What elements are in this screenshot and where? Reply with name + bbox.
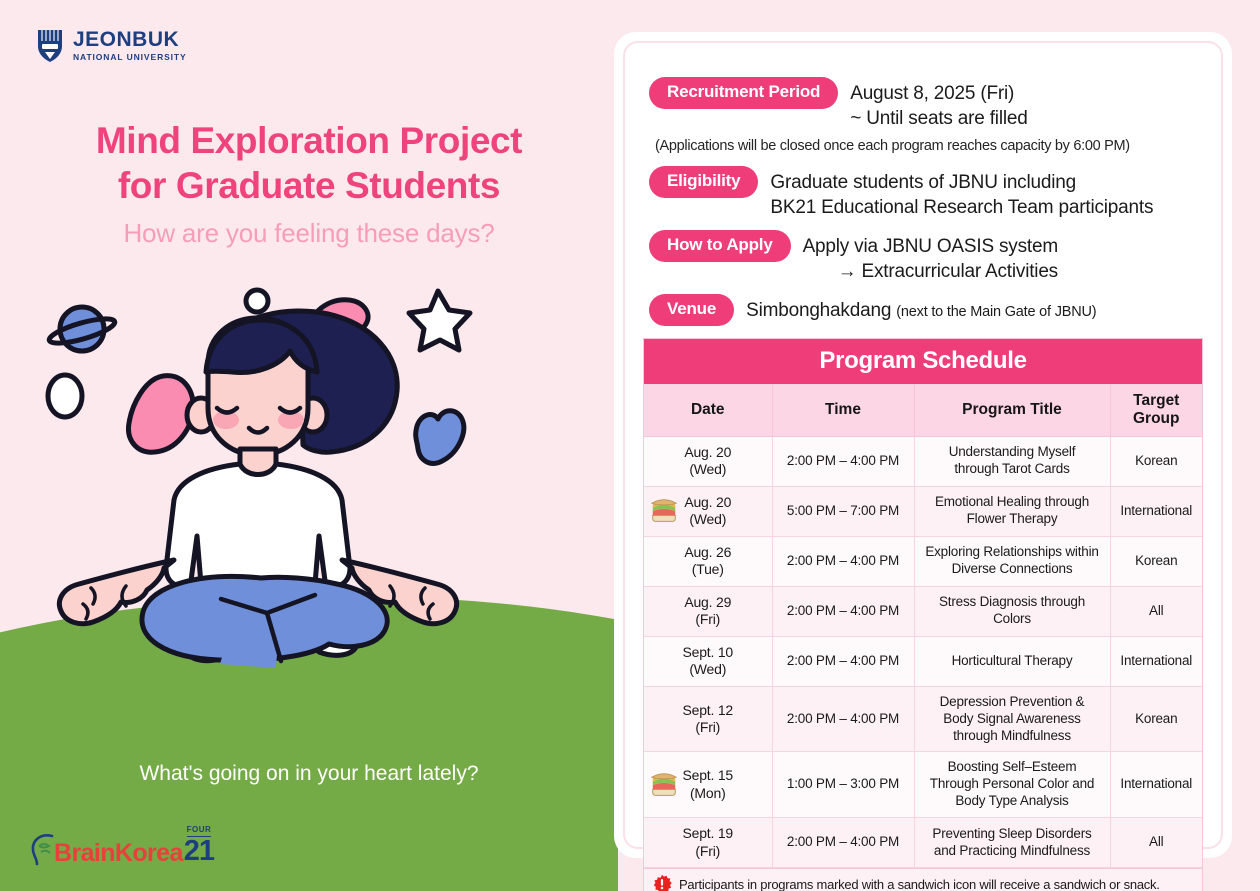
cell-date: Aug. 20(Wed) <box>644 436 772 486</box>
program-title-line: through Mindfulness <box>953 728 1071 743</box>
jeonbuk-logo: JEONBUK NATIONAL UNIVERSITY <box>36 28 187 62</box>
schedule-footnote: Participants in programs marked with a s… <box>644 868 1202 891</box>
sandwich-icon <box>649 498 679 524</box>
cell-time: 2:00 PM – 4:00 PM <box>772 536 914 586</box>
cell-date: Aug. 20(Wed) <box>644 486 772 536</box>
eligibility-line1: Graduate students of JBNU including <box>770 172 1076 193</box>
program-title-line: Diverse Connections <box>952 561 1073 576</box>
table-row: Sept. 15(Mon)1:00 PM – 3:00 PMBoosting S… <box>644 752 1202 818</box>
circle-icon <box>48 375 82 417</box>
cell-date: Aug. 29(Fri) <box>644 586 772 636</box>
program-title-line: Colors <box>993 611 1031 626</box>
venue-name: Simbonghakdang <box>746 300 891 321</box>
cell-program-title: Boosting Self–EsteemThrough Personal Col… <box>914 752 1110 818</box>
cell-date: Sept. 19(Fri) <box>644 818 772 868</box>
date-line2: (Fri) <box>695 611 720 627</box>
date-line1: Sept. 10 <box>682 644 733 660</box>
info-row-venue: Venue Simbonghakdang (next to the Main G… <box>649 294 1201 326</box>
schedule-header-row: Date Time Program Title Target Group <box>644 384 1202 436</box>
page-title-line1: Mind Exploration Project <box>0 118 618 163</box>
table-row: Aug. 29(Fri)2:00 PM – 4:00 PMStress Diag… <box>644 586 1202 636</box>
program-title-line: Understanding Myself <box>949 444 1076 459</box>
header-target-group: Target Group <box>1110 384 1202 436</box>
jeonbuk-crest-icon <box>36 28 64 62</box>
sandwich-icon <box>649 772 679 798</box>
cell-target-group: Korean <box>1110 686 1202 752</box>
page-subtitle: How are you feeling these days? <box>0 218 618 249</box>
university-name: JEONBUK <box>73 29 187 50</box>
cell-program-title: Horticultural Therapy <box>914 636 1110 686</box>
value-how-to-apply: Apply via JBNU OASIS system → Extracurri… <box>791 230 1058 284</box>
bk21-number-group: FOUR 21 <box>184 826 214 866</box>
cell-time: 1:00 PM – 3:00 PM <box>772 752 914 818</box>
date-line1: Sept. 19 <box>682 825 733 841</box>
cell-target-group: Korean <box>1110 436 1202 486</box>
star-icon <box>409 291 470 350</box>
date-line2: (Fri) <box>695 719 720 735</box>
cell-date: Sept. 15(Mon) <box>644 752 772 818</box>
planet-icon <box>47 307 117 351</box>
info-row-recruitment-period: Recruitment Period August 8, 2025 (Fri) … <box>649 77 1201 131</box>
info-card-inner: Recruitment Period August 8, 2025 (Fri) … <box>623 41 1223 849</box>
apply-line2: → Extracurricular Activities <box>803 259 1058 284</box>
value-recruitment-period: August 8, 2025 (Fri) ~ Until seats are f… <box>838 77 1027 131</box>
label-eligibility: Eligibility <box>649 166 758 198</box>
value-eligibility: Graduate students of JBNU including BK21… <box>758 166 1153 220</box>
info-row-eligibility: Eligibility Graduate students of JBNU in… <box>649 166 1201 220</box>
poster-root: JEONBUK NATIONAL UNIVERSITY Mind Explora… <box>0 0 1260 891</box>
page-title: Mind Exploration Project for Graduate St… <box>0 118 618 208</box>
cell-date: Sept. 12(Fri) <box>644 686 772 752</box>
program-title-line: Depression Prevention & <box>940 694 1085 709</box>
date-line1: Aug. 20 <box>684 444 731 460</box>
date-line1: Aug. 20 <box>684 494 731 510</box>
page-title-line2: for Graduate Students <box>0 163 618 208</box>
table-row: Aug. 20(Wed)5:00 PM – 7:00 PMEmotional H… <box>644 486 1202 536</box>
cell-time: 2:00 PM – 4:00 PM <box>772 686 914 752</box>
program-schedule: Program Schedule Date Time Program Title… <box>643 338 1203 891</box>
date-line2: (Wed) <box>689 661 726 677</box>
info-card: Recruitment Period August 8, 2025 (Fri) … <box>614 32 1232 858</box>
date-line1: Aug. 29 <box>684 594 731 610</box>
bk21-number: 21 <box>184 837 214 866</box>
cell-target-group: All <box>1110 586 1202 636</box>
date-line2: (Wed) <box>689 511 726 527</box>
meditating-person-illustration <box>35 268 580 668</box>
cell-time: 2:00 PM – 4:00 PM <box>772 436 914 486</box>
recruitment-end-text: ~ Until seats are filled <box>850 106 1027 131</box>
page-tagline: What's going on in your heart lately? <box>0 762 618 786</box>
program-title-line: Horticultural Therapy <box>952 653 1073 668</box>
schedule-table-body: Aug. 20(Wed)2:00 PM – 4:00 PMUnderstandi… <box>644 436 1202 867</box>
date-line2: (Tue) <box>692 561 724 577</box>
header-time: Time <box>772 384 914 436</box>
header-target-group-line1: Target <box>1133 392 1179 409</box>
schedule-title: Program Schedule <box>644 339 1202 384</box>
schedule-table: Date Time Program Title Target Group Aug… <box>644 384 1202 868</box>
venue-note: (next to the Main Gate of JBNU) <box>896 304 1096 320</box>
eligibility-line2: BK21 Educational Research Team participa… <box>770 195 1153 220</box>
table-row: Sept. 19(Fri)2:00 PM – 4:00 PMPreventing… <box>644 818 1202 868</box>
cell-program-title: Depression Prevention &Body Signal Aware… <box>914 686 1110 752</box>
cell-program-title: Exploring Relationships withinDiverse Co… <box>914 536 1110 586</box>
recruitment-start-date: August 8, 2025 (Fri) <box>850 83 1014 104</box>
cell-program-title: Stress Diagnosis throughColors <box>914 586 1110 636</box>
header-target-group-line2: Group <box>1133 410 1180 427</box>
footnote-text: Participants in programs marked with a s… <box>679 877 1160 891</box>
recruitment-note: (Applications will be closed once each p… <box>649 135 1201 166</box>
label-recruitment-period: Recruitment Period <box>649 77 838 109</box>
program-title-line: and Practicing Mindfulness <box>934 843 1090 858</box>
schedule-table-head: Date Time Program Title Target Group <box>644 384 1202 436</box>
apply-line1: Apply via JBNU OASIS system <box>803 236 1058 257</box>
jeonbuk-logo-text: JEONBUK NATIONAL UNIVERSITY <box>73 29 187 62</box>
cell-time: 2:00 PM – 4:00 PM <box>772 818 914 868</box>
cell-program-title: Preventing Sleep Disordersand Practicing… <box>914 818 1110 868</box>
blob-icon <box>129 376 194 453</box>
table-row: Sept. 12(Fri)2:00 PM – 4:00 PMDepression… <box>644 686 1202 752</box>
cell-time: 5:00 PM – 7:00 PM <box>772 486 914 536</box>
cell-program-title: Understanding Myselfthrough Tarot Cards <box>914 436 1110 486</box>
info-list: Recruitment Period August 8, 2025 (Fri) … <box>641 65 1205 326</box>
alert-exclamation-icon <box>652 874 672 891</box>
program-title-line: Exploring Relationships within <box>925 544 1098 559</box>
date-line1: Sept. 12 <box>682 702 733 718</box>
program-title-line: Stress Diagnosis through <box>939 594 1085 609</box>
date-line1: Aug. 26 <box>684 544 731 560</box>
brainkorea-text: BrainKorea <box>54 841 183 866</box>
date-line1: Sept. 15 <box>682 767 733 783</box>
cell-target-group: All <box>1110 818 1202 868</box>
cell-time: 2:00 PM – 4:00 PM <box>772 586 914 636</box>
program-title-line: through Tarot Cards <box>954 461 1069 476</box>
program-title-line: Through Personal Color and <box>930 776 1094 791</box>
cell-program-title: Emotional Healing throughFlower Therapy <box>914 486 1110 536</box>
program-title-line: Body Type Analysis <box>955 793 1068 808</box>
value-venue: Simbonghakdang (next to the Main Gate of… <box>734 298 1096 323</box>
program-title-line: Body Signal Awareness <box>943 711 1080 726</box>
cell-target-group: International <box>1110 486 1202 536</box>
date-line2: (Fri) <box>695 843 720 859</box>
cell-date: Sept. 10(Wed) <box>644 636 772 686</box>
program-title-line: Emotional Healing through <box>935 494 1089 509</box>
program-title-line: Flower Therapy <box>967 511 1058 526</box>
cell-target-group: Korean <box>1110 536 1202 586</box>
header-date: Date <box>644 384 772 436</box>
cell-target-group: International <box>1110 636 1202 686</box>
label-how-to-apply: How to Apply <box>649 230 791 262</box>
cell-date: Aug. 26(Tue) <box>644 536 772 586</box>
date-line2: (Mon) <box>690 785 726 801</box>
info-row-how-to-apply: How to Apply Apply via JBNU OASIS system… <box>649 230 1201 284</box>
table-row: Sept. 10(Wed)2:00 PM – 4:00 PMHorticultu… <box>644 636 1202 686</box>
blob-icon <box>416 411 464 464</box>
program-title-line: Preventing Sleep Disorders <box>932 826 1091 841</box>
header-program-title: Program Title <box>914 384 1110 436</box>
program-title-line: Boosting Self–Esteem <box>948 759 1077 774</box>
label-venue: Venue <box>649 294 734 326</box>
cell-time: 2:00 PM – 4:00 PM <box>772 636 914 686</box>
circle-icon <box>246 290 268 312</box>
date-line2: (Wed) <box>689 461 726 477</box>
left-panel: JEONBUK NATIONAL UNIVERSITY Mind Explora… <box>0 0 618 891</box>
table-row: Aug. 20(Wed)2:00 PM – 4:00 PMUnderstandi… <box>644 436 1202 486</box>
brainkorea21-logo: BrainKorea FOUR 21 <box>30 826 214 866</box>
cell-target-group: International <box>1110 752 1202 818</box>
university-subtitle: NATIONAL UNIVERSITY <box>73 53 187 62</box>
table-row: Aug. 26(Tue)2:00 PM – 4:00 PMExploring R… <box>644 536 1202 586</box>
